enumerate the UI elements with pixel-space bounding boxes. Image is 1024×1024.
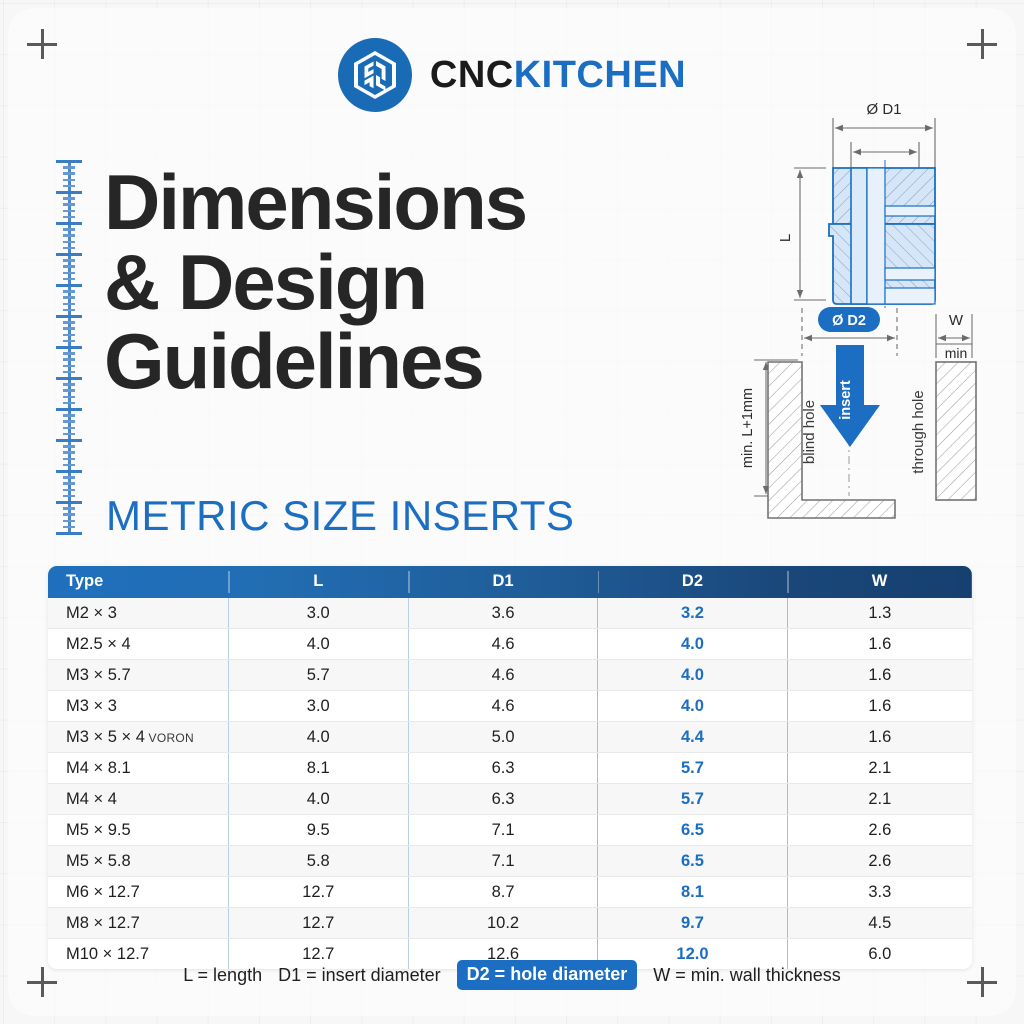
ruler-tick xyxy=(63,210,75,212)
insert-cross-section-diagram: Ø D1 L xyxy=(780,100,1020,325)
ruler-tick xyxy=(63,520,75,522)
ruler-tick xyxy=(63,203,75,205)
ruler-tick xyxy=(63,489,75,491)
table-row[interactable]: M5 × 9.59.57.16.52.6 xyxy=(48,815,972,846)
ruler-tick xyxy=(63,296,75,298)
ruler-tick xyxy=(63,247,75,249)
cell-w: 3.3 xyxy=(787,877,972,908)
poster-canvas: CNC KITCHEN Dimensions & Design Guidelin… xyxy=(0,0,1024,1024)
ruler-tick xyxy=(63,216,75,218)
table-row[interactable]: M8 × 12.712.710.29.74.5 xyxy=(48,908,972,939)
ruler-tick xyxy=(63,352,75,354)
ruler-tick xyxy=(63,495,75,497)
page-subtitle: METRIC SIZE INSERTS xyxy=(106,492,574,540)
table-row[interactable]: M3 × 5.75.74.64.01.6 xyxy=(48,660,972,691)
ruler-tick xyxy=(63,482,75,484)
ruler-tick xyxy=(63,433,75,435)
legend: L = length D1 = insert diameter D2 = hol… xyxy=(0,960,1024,990)
ruler-tick xyxy=(56,160,82,163)
ruler-tick xyxy=(63,290,75,292)
cell-w: 1.6 xyxy=(787,691,972,722)
ruler-tick xyxy=(63,197,75,199)
cell-l: 12.7 xyxy=(228,908,408,939)
cell-type: M8 × 12.7 xyxy=(48,908,228,939)
cell-type-note: VORON xyxy=(145,731,194,745)
ruler-tick xyxy=(63,172,75,174)
blind-hole-label: blind hole xyxy=(801,400,818,464)
legend-item-d2: D2 = hole diameter xyxy=(457,960,638,990)
ruler-tick xyxy=(63,358,75,360)
ruler-tick xyxy=(63,526,75,528)
table-row[interactable]: M5 × 5.85.87.16.52.6 xyxy=(48,846,972,877)
ruler-tick xyxy=(63,309,75,311)
dimension-label-w: W xyxy=(949,312,964,329)
cell-d1: 4.6 xyxy=(408,691,597,722)
table-row[interactable]: M6 × 12.712.78.78.13.3 xyxy=(48,877,972,908)
logo-text-kitchen: KITCHEN xyxy=(514,54,686,97)
ruler-tick xyxy=(56,377,82,380)
table-row[interactable]: M3 × 33.04.64.01.6 xyxy=(48,691,972,722)
ruler-tick xyxy=(63,179,75,181)
ruler-tick xyxy=(63,241,75,243)
ruler-tick xyxy=(63,365,75,367)
cell-type: M5 × 5.8 xyxy=(48,846,228,877)
page-title: Dimensions & Design Guidelines xyxy=(104,163,704,402)
cell-w: 1.6 xyxy=(787,660,972,691)
cell-type: M4 × 4 xyxy=(48,784,228,815)
cell-w: 2.1 xyxy=(787,784,972,815)
cell-w: 1.6 xyxy=(787,629,972,660)
dimensions-table-card: Type L D1 D2 W M2 × 33.03.63.21.3M2.5 × … xyxy=(48,566,972,969)
ruler-tick xyxy=(56,315,82,318)
ruler-tick xyxy=(63,334,75,336)
ruler-tick xyxy=(63,265,75,267)
cell-type: M5 × 9.5 xyxy=(48,815,228,846)
cell-l: 5.8 xyxy=(228,846,408,877)
cell-w: 2.6 xyxy=(787,846,972,877)
logo-text-cnc: CNC xyxy=(430,54,514,97)
column-header-w[interactable]: W xyxy=(787,566,972,598)
legend-item-w: W = min. wall thickness xyxy=(653,965,841,986)
table-header-row: Type L D1 D2 W xyxy=(48,566,972,598)
cell-l: 3.0 xyxy=(228,691,408,722)
ruler-tick xyxy=(63,427,75,429)
cell-d1: 3.6 xyxy=(408,598,597,629)
ruler-tick xyxy=(63,507,75,509)
ruler-tick xyxy=(56,439,82,442)
ruler-tick xyxy=(63,259,75,261)
ruler-tick xyxy=(63,445,75,447)
cell-type: M2 × 3 xyxy=(48,598,228,629)
cell-d1: 7.1 xyxy=(408,846,597,877)
cell-l: 12.7 xyxy=(228,877,408,908)
ruler-tick xyxy=(63,458,75,460)
ruler-tick xyxy=(56,253,82,256)
ruler-tick xyxy=(63,340,75,342)
ruler-tick xyxy=(56,346,82,349)
cell-d1: 4.6 xyxy=(408,629,597,660)
cell-d2: 6.5 xyxy=(598,815,787,846)
cell-l: 5.7 xyxy=(228,660,408,691)
cell-d1: 8.7 xyxy=(408,877,597,908)
ruler-tick xyxy=(63,185,75,187)
column-header-d2[interactable]: D2 xyxy=(598,566,787,598)
cell-w: 1.3 xyxy=(787,598,972,629)
cell-w: 1.6 xyxy=(787,722,972,753)
cell-l: 9.5 xyxy=(228,815,408,846)
cell-w: 4.5 xyxy=(787,908,972,939)
page-title-line-2: & Design xyxy=(104,243,704,323)
d2-badge-label: Ø D2 xyxy=(832,313,866,329)
ruler-tick xyxy=(56,501,82,504)
ruler-tick xyxy=(63,321,75,323)
cell-type: M2.5 × 4 xyxy=(48,629,228,660)
cell-type: M3 × 3 xyxy=(48,691,228,722)
cell-d2: 3.2 xyxy=(598,598,787,629)
cell-type: M6 × 12.7 xyxy=(48,877,228,908)
ruler-tick xyxy=(63,513,75,515)
ruler-tick xyxy=(63,278,75,280)
table-row[interactable]: M2 × 33.03.63.21.3 xyxy=(48,598,972,629)
cell-d2: 4.0 xyxy=(598,691,787,722)
ruler-tick xyxy=(63,228,75,230)
dimension-label-d1: Ø D1 xyxy=(866,101,901,118)
table-row[interactable]: M4 × 44.06.35.72.1 xyxy=(48,784,972,815)
table-body: M2 × 33.03.63.21.3M2.5 × 44.04.64.01.6M3… xyxy=(48,598,972,969)
cell-d2: 6.5 xyxy=(598,846,787,877)
insert-arrow-label: insert xyxy=(838,380,854,420)
table-row[interactable]: M4 × 8.18.16.35.72.1 xyxy=(48,753,972,784)
ruler-tick xyxy=(63,476,75,478)
cell-l: 4.0 xyxy=(228,629,408,660)
cell-l: 4.0 xyxy=(228,784,408,815)
ruler-tick xyxy=(63,272,75,274)
ruler-tick xyxy=(56,532,82,535)
ruler-tick xyxy=(56,284,82,287)
cell-d2: 5.7 xyxy=(598,753,787,784)
column-header-type[interactable]: Type xyxy=(48,566,228,598)
cell-type: M4 × 8.1 xyxy=(48,753,228,784)
cell-d2: 5.7 xyxy=(598,784,787,815)
cell-d1: 5.0 xyxy=(408,722,597,753)
cell-d1: 4.6 xyxy=(408,660,597,691)
dimension-label-l: L xyxy=(780,234,794,242)
cell-d2: 9.7 xyxy=(598,908,787,939)
through-hole-label: through hole xyxy=(910,390,927,473)
ruler-tick xyxy=(63,383,75,385)
cell-type: M3 × 5 × 4 VORON xyxy=(48,722,228,753)
ruler-tick xyxy=(63,396,75,398)
cell-d1: 6.3 xyxy=(408,784,597,815)
hole-design-diagram: Ø D2 W min xyxy=(740,300,1024,545)
cell-d1: 10.2 xyxy=(408,908,597,939)
ruler-tick xyxy=(63,371,75,373)
legend-item-d1: D1 = insert diameter xyxy=(278,965,441,986)
cell-w: 2.6 xyxy=(787,815,972,846)
column-header-d1[interactable]: D1 xyxy=(408,566,597,598)
cnc-kitchen-cube-icon xyxy=(338,38,412,112)
ruler-tick xyxy=(63,402,75,404)
cell-l: 4.0 xyxy=(228,722,408,753)
ruler-tick xyxy=(63,420,75,422)
cell-d1: 7.1 xyxy=(408,815,597,846)
cell-d2: 4.0 xyxy=(598,629,787,660)
dimension-label-depth: min. L+1mm xyxy=(740,388,756,468)
cell-type: M3 × 5.7 xyxy=(48,660,228,691)
cell-d2: 8.1 xyxy=(598,877,787,908)
ruler-tick xyxy=(63,234,75,236)
cell-w: 2.1 xyxy=(787,753,972,784)
cell-l: 8.1 xyxy=(228,753,408,784)
cell-d2: 4.0 xyxy=(598,660,787,691)
dimension-label-w-min: min xyxy=(945,345,968,361)
cell-d2: 4.4 xyxy=(598,722,787,753)
ruler-tick xyxy=(63,166,75,168)
ruler-tick xyxy=(63,389,75,391)
page-title-line-1: Dimensions xyxy=(104,163,704,243)
ruler-tick xyxy=(56,191,82,194)
ruler-tick xyxy=(56,222,82,225)
legend-item-l: L = length xyxy=(183,965,262,986)
cell-l: 3.0 xyxy=(228,598,408,629)
ruler-tick xyxy=(63,464,75,466)
ruler-tick xyxy=(63,303,75,305)
decorative-ruler-icon xyxy=(56,160,82,532)
ruler-tick xyxy=(63,414,75,416)
dimensions-table: Type L D1 D2 W M2 × 33.03.63.21.3M2.5 × … xyxy=(48,566,972,969)
cell-d1: 6.3 xyxy=(408,753,597,784)
ruler-tick xyxy=(56,470,82,473)
table-row[interactable]: M2.5 × 44.04.64.01.6 xyxy=(48,629,972,660)
ruler-tick xyxy=(63,327,75,329)
column-header-l[interactable]: L xyxy=(228,566,408,598)
ruler-tick xyxy=(56,408,82,411)
page-title-line-3: Guidelines xyxy=(104,322,704,402)
ruler-tick xyxy=(63,451,75,453)
table-row[interactable]: M3 × 5 × 4 VORON4.05.04.41.6 xyxy=(48,722,972,753)
